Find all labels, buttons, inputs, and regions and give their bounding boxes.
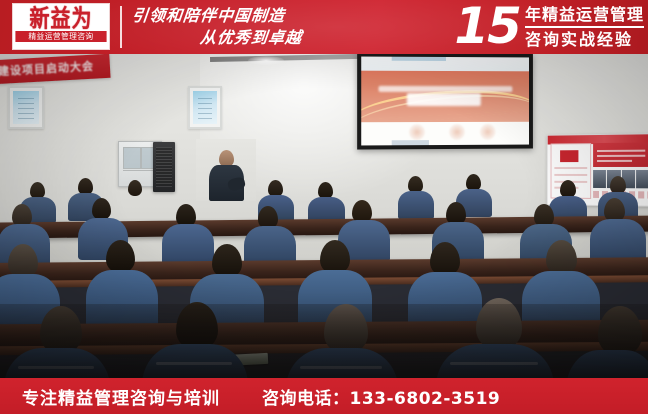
logo-brand-text: 新益为 bbox=[30, 4, 93, 32]
slogan-line-1: 引领和陪伴中国制造 bbox=[131, 6, 286, 26]
footer-phone-number: 133-6802-3519 bbox=[350, 389, 501, 409]
footer-contact[interactable]: 咨询电话：133-6802-3519 bbox=[262, 384, 500, 409]
header-bar: 新益为 精益运营管理咨询 引领和陪伴中国制造 从优秀到卓越 15 年精益运营管理… bbox=[0, 0, 648, 54]
slogan-line-2: 从优秀到卓越 bbox=[199, 28, 303, 48]
experience-badge: 15 年精益运营管理 咨询实战经验 bbox=[454, 0, 644, 54]
experience-line-2: 咨询实战经验 bbox=[525, 28, 644, 51]
experience-line-1: 年精益运营管理 bbox=[525, 4, 644, 26]
header-divider bbox=[120, 6, 122, 48]
company-logo[interactable]: 新益为 精益运营管理咨询 bbox=[12, 3, 110, 50]
footer-tagline: 专注精益管理咨询与培训 bbox=[22, 384, 220, 409]
logo-tagline-text: 精益运营管理咨询 bbox=[15, 31, 106, 42]
photo-vignette bbox=[0, 54, 648, 378]
promo-banner-page: 新益为 精益运营管理咨询 引领和陪伴中国制造 从优秀到卓越 15 年精益运营管理… bbox=[0, 0, 648, 414]
meeting-photo: 建设项目启动大会 bbox=[0, 54, 648, 378]
experience-text-block: 年精益运营管理 咨询实战经验 bbox=[525, 4, 644, 51]
footer-phone-label: 咨询电话： bbox=[262, 389, 350, 409]
header-slogan: 引领和陪伴中国制造 从优秀到卓越 bbox=[130, 2, 380, 52]
experience-number: 15 bbox=[454, 1, 520, 51]
footer-bar: 专注精益管理咨询与培训 咨询电话：133-6802-3519 bbox=[0, 378, 648, 414]
